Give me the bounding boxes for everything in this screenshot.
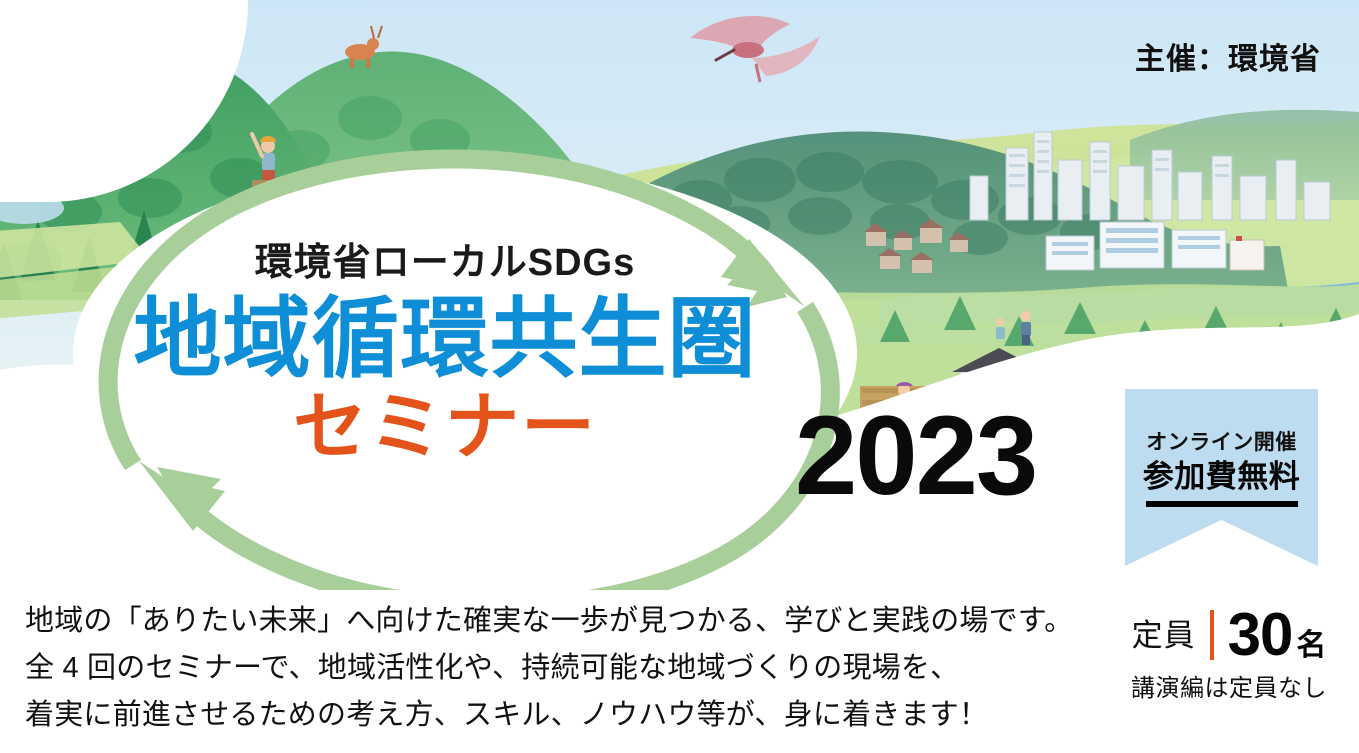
title-accent: セミナー [95,388,795,466]
capacity-label: 定員 [1132,620,1196,651]
session-count-badge-text: 連続セミナー 全 4 回 [0,0,103,7]
title-block: 環境省ローカルSDGs 地域循環共生圏 セミナー [95,243,795,466]
body-copy: 地域の「ありたい未来」へ向けた確実な一歩が見つかる、学びと実践の場です。 全 4… [25,598,1045,739]
title-main: 地域循環共生圏 [95,291,795,386]
body-line: 全 4 回のセミナーで、地域活性化や、持続可能な地域づくりの現場を、 [25,645,1045,692]
body-line: 着実に前進させるための考え方、スキル、ノウハウ等が、身に着きます！ [25,692,1045,739]
capacity-unit: 名 [1296,631,1326,665]
ribbon-free-label: 参加費無料 [1125,461,1318,492]
capacity-note: 講演編は定員なし [1113,677,1345,701]
title-subtitle: 環境省ローカルSDGs [95,243,795,285]
online-free-ribbon: オンライン開催 参加費無料 [1125,389,1318,566]
ribbon-online-label: オンライン開催 [1125,389,1318,453]
year-label: 2023 [795,400,1036,512]
host-organization-label: 主催：環境省 [1135,34,1321,78]
seminar-poster: 環境省ローカルSDGs 地域循環共生圏 セミナー 2023 連続セミナー 全 4… [0,0,1359,753]
capacity-number: 30 [1228,605,1293,665]
ribbon-underline [1146,501,1298,507]
capacity-divider [1210,610,1214,660]
capacity-row: 定員 30 名 [1113,605,1345,665]
capacity-block: 定員 30 名 講演編は定員なし [1113,605,1345,701]
body-line: 地域の「ありたい未来」へ向けた確実な一歩が見つかる、学びと実践の場です。 [25,598,1045,645]
